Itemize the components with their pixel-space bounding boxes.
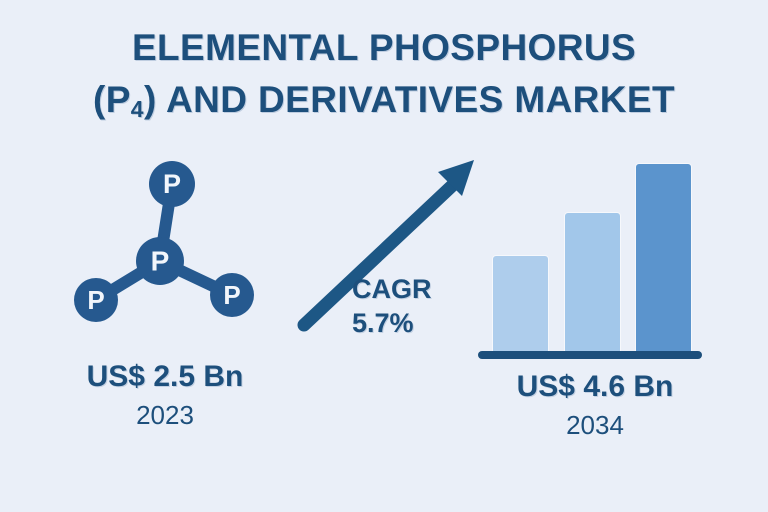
title-line-2-prefix: (P: [93, 79, 131, 120]
phosphorus-molecule-diagram: P P P P: [30, 148, 295, 348]
forecast-year-label: 2034: [455, 408, 735, 442]
atom-top-label: P: [163, 169, 181, 199]
molecule-svg: P P P P: [30, 148, 295, 348]
cagr-block: CAGR 5.7%: [352, 272, 482, 340]
chart-bars-area: [470, 150, 715, 352]
molecule-atoms: P P P P: [74, 161, 254, 322]
cagr-label: CAGR: [352, 272, 482, 306]
atom-bottom-right-label: P: [223, 280, 240, 310]
base-year-value-block: US$ 2.5 Bn 2023: [20, 358, 310, 432]
atom-bottom-left-label: P: [87, 285, 104, 315]
title-line-2-suffix: ) AND DERIVATIVES MARKET: [144, 79, 675, 120]
page-title: ELEMENTAL PHOSPHORUS (P4) AND DERIVATIVE…: [0, 22, 768, 130]
base-year-label: 2023: [20, 398, 310, 432]
table-row: [565, 213, 620, 352]
cagr-value: 5.7%: [352, 306, 482, 340]
forecast-year-amount: US$ 4.6 Bn: [455, 368, 735, 406]
title-line-2: (P4) AND DERIVATIVES MARKET: [0, 74, 768, 130]
title-subscript-4: 4: [131, 96, 144, 122]
infographic-canvas: ELEMENTAL PHOSPHORUS (P4) AND DERIVATIVE…: [0, 0, 768, 512]
base-year-amount: US$ 2.5 Bn: [20, 358, 310, 396]
market-growth-bar-chart: [470, 150, 715, 365]
table-row: [636, 164, 691, 352]
forecast-year-value-block: US$ 4.6 Bn 2034: [455, 368, 735, 442]
title-line-1: ELEMENTAL PHOSPHORUS: [0, 22, 768, 74]
chart-baseline: [478, 351, 702, 359]
atom-center-label: P: [151, 246, 170, 277]
table-row: [493, 256, 548, 352]
